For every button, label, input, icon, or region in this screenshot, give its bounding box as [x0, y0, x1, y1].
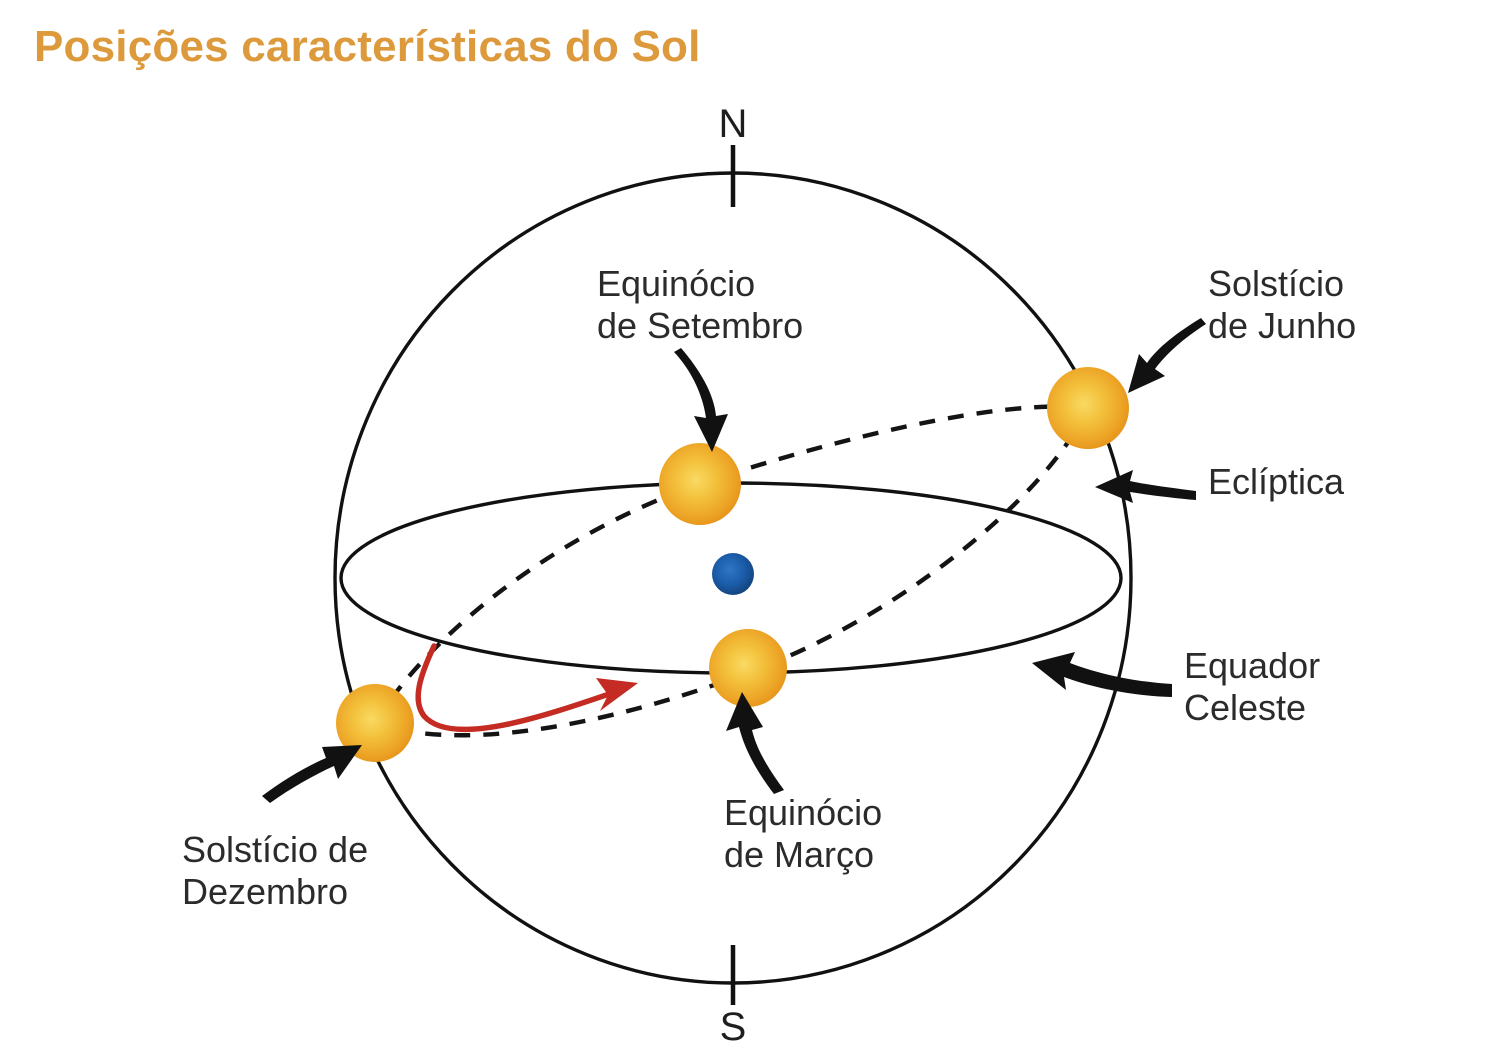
label-equinocio-setembro-line2: de Setembro — [597, 305, 803, 346]
leader-equinocio-setembro — [674, 348, 728, 452]
leader-solsticio-dezembro — [262, 745, 362, 803]
sun-equinocio-marco[interactable] — [709, 629, 787, 707]
label-solsticio-dezembro-line1: Solstício de — [182, 829, 368, 870]
label-equador-celeste-line2: Celeste — [1184, 687, 1306, 728]
earth-sphere[interactable] — [712, 553, 754, 595]
north-pole-label: N — [719, 102, 748, 146]
label-equinocio-setembro-line1: Equinócio — [597, 263, 755, 304]
south-pole-label: S — [720, 1005, 747, 1049]
leader-equador-celeste — [1032, 652, 1172, 697]
leader-equinocio-marco — [726, 692, 784, 794]
label-equinocio-marco-line1: Equinócio — [724, 792, 882, 833]
label-solsticio-junho-line1: Solstício — [1208, 263, 1344, 304]
diagram-stage: N S Equinócio de Setembro Solstício de J… — [0, 0, 1498, 1051]
sun-equinocio-setembro[interactable] — [659, 443, 741, 525]
leader-ecliptica — [1095, 470, 1196, 503]
sun-solsticio-junho[interactable] — [1047, 367, 1129, 449]
label-solsticio-dezembro-line2: Dezembro — [182, 871, 348, 912]
label-solsticio-junho-line2: de Junho — [1208, 305, 1356, 346]
label-equador-celeste-line1: Equador — [1184, 645, 1320, 686]
leader-solsticio-junho — [1128, 318, 1206, 393]
label-equinocio-marco-line2: de Março — [724, 834, 874, 875]
label-ecliptica: Eclíptica — [1208, 461, 1345, 502]
